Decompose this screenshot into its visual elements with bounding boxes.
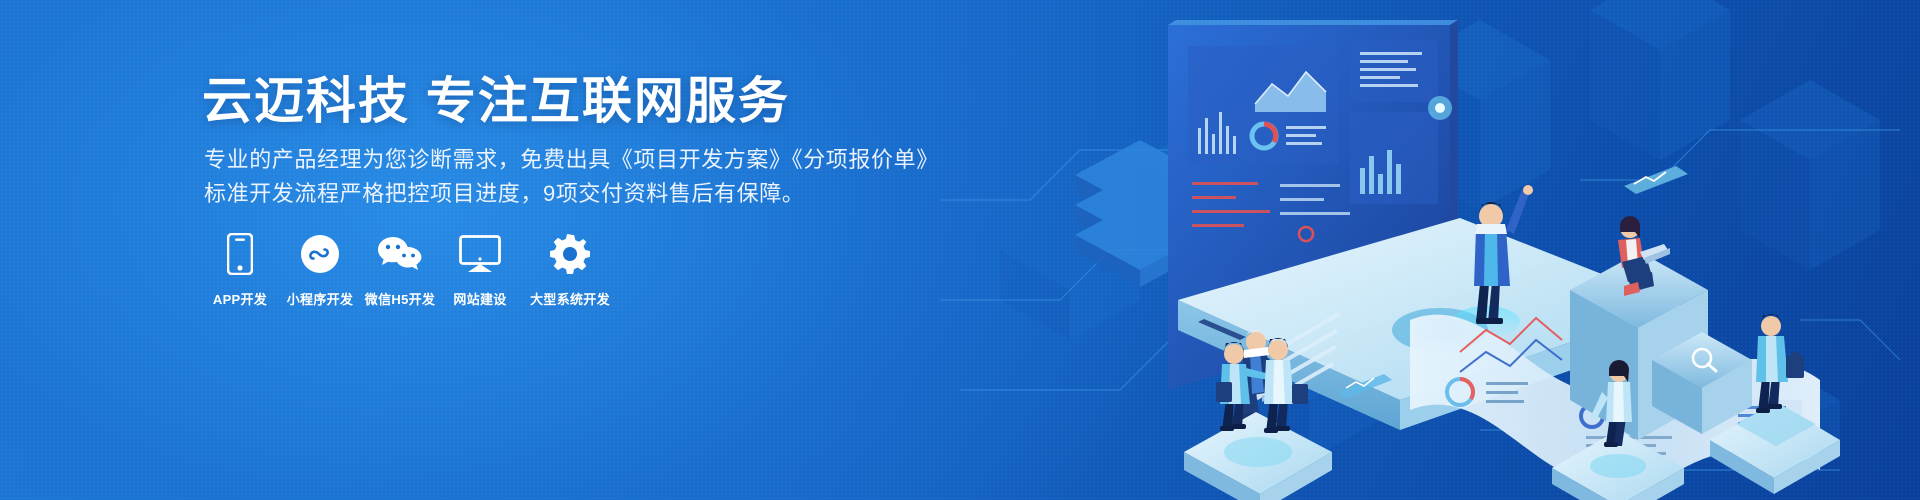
service-item-large-system[interactable]: 大型系统开发	[524, 232, 616, 308]
service-item-app[interactable]: APP开发	[204, 232, 276, 308]
gear-icon	[550, 232, 590, 276]
service-label-wechat-h5: 微信H5开发	[365, 289, 435, 308]
subtitle-line-2: 标准开发流程严格把控项目进度，9项交付资料售后有保障。	[204, 177, 939, 211]
service-list: APP开发 小程序开发	[204, 232, 616, 308]
service-label-app: APP开发	[213, 289, 267, 308]
subtitle-line-1: 专业的产品经理为您诊断需求，免费出具《项目开发方案》《分项报价单》	[204, 143, 939, 177]
page-title: 云迈科技 专注互联网服务	[202, 72, 790, 131]
illustration-container	[940, 0, 1920, 500]
wechat-icon	[377, 232, 423, 276]
service-item-wechat-h5[interactable]: 微信H5开发	[364, 232, 436, 308]
service-item-miniprogram[interactable]: 小程序开发	[284, 232, 356, 308]
isometric-tech-illustration	[940, 0, 1920, 500]
monitor-icon	[459, 232, 501, 276]
service-item-website[interactable]: 网站建设	[444, 232, 516, 308]
service-label-website: 网站建设	[453, 289, 506, 308]
service-label-miniprogram: 小程序开发	[287, 289, 354, 308]
service-label-large-system: 大型系统开发	[530, 289, 610, 308]
mobile-phone-icon	[227, 232, 253, 276]
hero-banner: 云迈科技 专注互联网服务 专业的产品经理为您诊断需求，免费出具《项目开发方案》《…	[0, 0, 1920, 500]
hero-subtitle: 专业的产品经理为您诊断需求，免费出具《项目开发方案》《分项报价单》 标准开发流程…	[204, 143, 939, 211]
mini-program-icon	[300, 232, 340, 276]
hero-content: 云迈科技 专注互联网服务 专业的产品经理为您诊断需求，免费出具《项目开发方案》《…	[202, 0, 962, 500]
